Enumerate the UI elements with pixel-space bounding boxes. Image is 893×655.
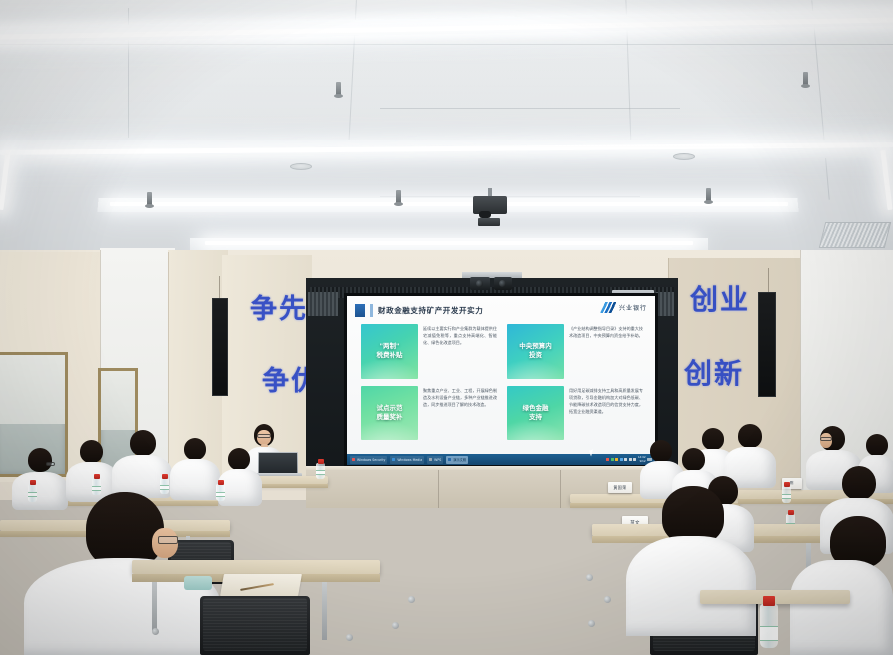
app-icon bbox=[392, 458, 395, 461]
ceiling-led-strip-3 bbox=[110, 202, 788, 206]
slide-header: 财政金融支持矿产开发开实力 bbox=[355, 304, 483, 317]
front-counter-top bbox=[306, 466, 678, 470]
camera-lens-icon bbox=[476, 280, 483, 287]
bottle-cap bbox=[784, 482, 790, 487]
wall-seam bbox=[800, 250, 801, 490]
tray-icon[interactable] bbox=[611, 458, 614, 462]
slide-card: "两制" 税费补贴 延续以主要实行和产业集群为载体提供住宅减值免税等，重点支持高… bbox=[361, 324, 497, 379]
card-image-label: 中央预算内 投资 bbox=[519, 342, 552, 360]
ceiling-speaker-icon bbox=[290, 163, 312, 170]
card-body-text: 聚焦重点产业、工业、工程，开展绿色制造及水利设备产业链，多种产业链推进改造，同步… bbox=[423, 386, 497, 441]
slide-title: 财政金融支持矿产开发开实力 bbox=[378, 305, 483, 316]
tray-icon[interactable] bbox=[620, 458, 623, 462]
tray-icon[interactable] bbox=[633, 458, 636, 462]
chair-caster bbox=[408, 596, 415, 603]
bottle-cap bbox=[162, 474, 168, 479]
attendee bbox=[170, 438, 220, 498]
attendee-body bbox=[626, 536, 756, 636]
windows-taskbar[interactable]: Windows Security Windows Media WPS 演示文稿 … bbox=[347, 454, 655, 465]
bottle-cap bbox=[94, 474, 100, 479]
taskbar-app-1-label: Windows Security bbox=[357, 458, 385, 462]
chair-caster bbox=[588, 620, 595, 627]
attendee-head bbox=[130, 430, 156, 456]
chair-caster bbox=[586, 574, 593, 581]
chair-mesh bbox=[203, 598, 307, 651]
ceiling-camera bbox=[470, 277, 490, 290]
wall-speaker-right bbox=[758, 292, 776, 397]
card-image: 中央预算内 投资 bbox=[507, 324, 564, 379]
projector-lens-icon bbox=[479, 211, 491, 218]
ac-vent bbox=[819, 222, 891, 248]
chair-caster bbox=[392, 622, 399, 629]
window-blind bbox=[0, 355, 65, 424]
tray-icon[interactable] bbox=[624, 458, 627, 462]
projector-body bbox=[478, 218, 500, 226]
chair-caster bbox=[604, 596, 611, 603]
taskbar-app-3-label: WPS bbox=[434, 458, 441, 462]
projected-slide[interactable]: 财政金融支持矿产开发开实力 兴业银行 "两制" 税费补贴 延续以主要实行和产业集… bbox=[347, 296, 655, 454]
attendee-head bbox=[228, 448, 250, 470]
taskbar-app-3[interactable]: WPS bbox=[427, 456, 443, 464]
tray-icon[interactable] bbox=[606, 458, 609, 462]
tray-icon[interactable] bbox=[629, 458, 632, 462]
training-room-photo: 争先 争优 创业 创新 SENSOR PANEL 财政金融支持矿产开发开实力 兴… bbox=[0, 0, 893, 655]
attendee-head bbox=[866, 434, 888, 456]
water-bottle[interactable] bbox=[316, 463, 325, 479]
attendee-head bbox=[682, 448, 705, 471]
ceiling-projector bbox=[473, 196, 507, 214]
attendee-head bbox=[80, 440, 103, 463]
sprinkler-icon bbox=[396, 190, 401, 203]
chair[interactable] bbox=[200, 596, 310, 655]
speaker-wire bbox=[768, 268, 769, 292]
slide-accent-bar bbox=[370, 304, 373, 317]
attendee-body bbox=[790, 560, 893, 655]
ceiling-camera-secondary bbox=[494, 277, 512, 290]
water-bottle[interactable] bbox=[782, 486, 791, 503]
card-image-label: 绿色金融 支持 bbox=[523, 404, 549, 422]
attendee-head bbox=[184, 438, 206, 460]
ceiling-speaker-icon bbox=[673, 153, 695, 160]
window-blind bbox=[101, 371, 135, 430]
card-body-text: 《产业结构调整指导目录》支持的重大技术改造项目，中央预算内资金给予补助。 bbox=[569, 324, 643, 379]
ceiling-seam bbox=[380, 196, 640, 197]
glasses-icon bbox=[46, 462, 55, 466]
attendee-head bbox=[650, 440, 672, 462]
app-icon bbox=[352, 458, 355, 461]
ceiling-led-return-right bbox=[880, 150, 892, 210]
bottle-label bbox=[160, 485, 169, 490]
bottle-label bbox=[760, 626, 778, 641]
card-image: "两制" 税费补贴 bbox=[361, 324, 418, 379]
desk-row3-right bbox=[700, 590, 850, 604]
camera-lens-icon bbox=[499, 280, 506, 287]
bank-logo-mark-icon bbox=[600, 302, 616, 313]
attendee-foreground-far-right bbox=[790, 516, 893, 655]
tray-icon[interactable] bbox=[615, 458, 618, 462]
bottle-cap bbox=[30, 480, 36, 485]
taskbar-app-1[interactable]: Windows Security bbox=[350, 456, 387, 464]
bottle-cap bbox=[218, 480, 224, 485]
attendee-head bbox=[702, 428, 724, 450]
ceiling-seam bbox=[0, 44, 893, 45]
attendee-head bbox=[738, 424, 762, 448]
bottle-cap bbox=[318, 459, 324, 464]
slide-card: 绿色金融 支持 用好用足碳减排支持工具和高质量发展专项贷款，引导金融机构加大对绿… bbox=[507, 386, 643, 441]
attendee-head bbox=[86, 492, 164, 568]
desk-row3-center bbox=[132, 560, 380, 574]
attendee-head bbox=[842, 466, 876, 500]
taskbar-app-4-label: 演示文稿 bbox=[453, 457, 466, 462]
slide-card: 试点示范 质量奖补 聚焦重点产业、工业、工程，开展绿色制造及水利设备产业链，多种… bbox=[361, 386, 497, 441]
counter-seam bbox=[560, 470, 561, 508]
calligraphy-left-line1: 争先 bbox=[250, 296, 308, 323]
bottle-label bbox=[782, 494, 791, 499]
app-icon bbox=[429, 458, 432, 461]
card-body-text: 用好用足碳减排支持工具和高质量发展专项贷款，引导金融机构加大对绿色低碳、节能降碳… bbox=[569, 386, 643, 441]
slide-card: 中央预算内 投资 《产业结构调整指导目录》支持的重大技术改造项目，中央预算内资金… bbox=[507, 324, 643, 379]
card-image: 绿色金融 支持 bbox=[507, 386, 564, 441]
laptop-screen bbox=[259, 453, 297, 473]
bottle-cap bbox=[763, 596, 775, 606]
sprinkler-icon bbox=[336, 82, 341, 95]
calligraphy-right-line1: 创业 bbox=[690, 286, 750, 314]
sprinkler-icon bbox=[147, 192, 152, 205]
sprinkler-icon bbox=[706, 188, 711, 201]
presenter-laptop-lid[interactable] bbox=[258, 452, 298, 474]
wall-speaker-left bbox=[212, 298, 228, 396]
brand-name: 兴业银行 bbox=[619, 303, 647, 312]
ceiling-led-strip-4 bbox=[205, 241, 693, 245]
acoustic-panel-left bbox=[308, 292, 338, 316]
glasses-icon bbox=[257, 434, 271, 438]
chair-caster bbox=[346, 634, 353, 641]
slide-accent-block bbox=[355, 304, 365, 317]
card-image-label: 试点示范 质量奖补 bbox=[377, 404, 403, 422]
slide-brand-logo: 兴业银行 bbox=[600, 302, 647, 313]
attendee-foreground-right bbox=[626, 486, 756, 636]
speaker-wire bbox=[219, 276, 220, 298]
attendee-head bbox=[28, 448, 52, 472]
chair-caster bbox=[152, 628, 159, 635]
taskbar-app-2[interactable]: Windows Media bbox=[390, 456, 424, 464]
bottle-label bbox=[316, 470, 325, 475]
pencil-pouch[interactable] bbox=[184, 576, 212, 590]
taskbar-app-4[interactable]: 演示文稿 bbox=[446, 456, 468, 464]
ceiling-seam bbox=[380, 108, 680, 109]
card-body-text: 延续以主要实行和产业集群为载体提供住宅减值免税等，重点支持高端化、智能化、绿色化… bbox=[423, 324, 497, 379]
suspended-ceiling bbox=[0, 0, 893, 272]
counter-seam bbox=[438, 470, 439, 508]
desk-leg bbox=[322, 582, 327, 640]
bottle-label bbox=[92, 486, 101, 491]
bottle-cap bbox=[788, 510, 794, 515]
sprinkler-icon bbox=[803, 72, 808, 85]
calligraphy-right-line2: 创新 bbox=[684, 360, 744, 388]
app-icon bbox=[448, 458, 451, 461]
desk-leg bbox=[152, 582, 157, 632]
taskbar-app-2-label: Windows Media bbox=[397, 458, 422, 462]
glasses-icon bbox=[820, 437, 832, 441]
card-image-label: "两制" 税费补贴 bbox=[377, 342, 403, 360]
slide-card-grid: "两制" 税费补贴 延续以主要实行和产业集群为载体提供住宅减值免税等，重点支持高… bbox=[361, 324, 643, 440]
card-image: 试点示范 质量奖补 bbox=[361, 386, 418, 441]
ceiling-led-return-left bbox=[0, 150, 11, 210]
glasses-icon bbox=[158, 536, 178, 544]
water-bottle-foreground[interactable] bbox=[760, 604, 778, 648]
